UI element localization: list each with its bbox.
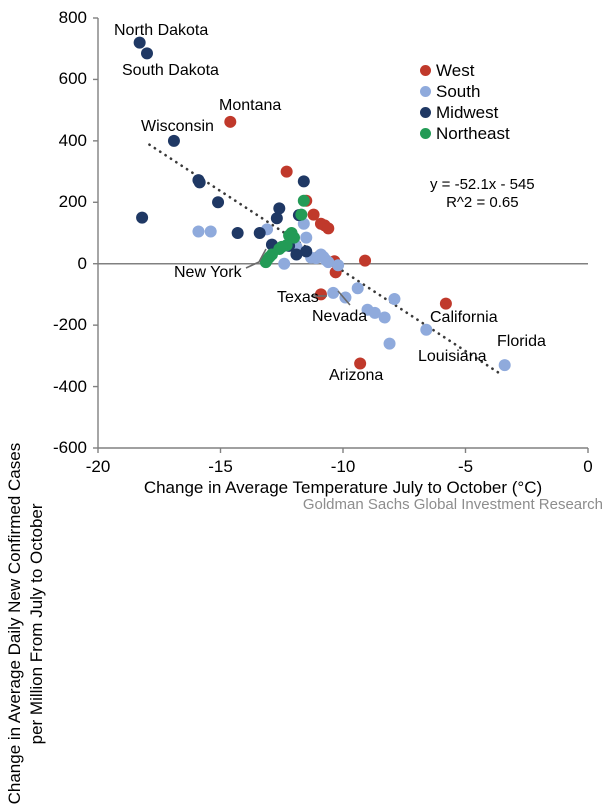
data-point: [384, 338, 396, 350]
data-point: [352, 282, 364, 294]
data-point: [499, 359, 511, 371]
x-axis-title: Change in Average Temperature July to Oc…: [98, 478, 588, 498]
data-point: [212, 196, 224, 208]
legend-swatch-icon: [420, 107, 431, 118]
x-tick-label: -15: [208, 457, 233, 477]
source-footer: Goldman Sachs Global Investment Research: [0, 496, 603, 513]
point-label-louisiana: Louisiana: [418, 348, 487, 366]
data-point: [205, 225, 217, 237]
x-tick-label: 0: [583, 457, 592, 477]
data-point: [295, 209, 307, 221]
data-point: [290, 249, 302, 261]
data-point: [388, 293, 400, 305]
point-label-wisconsin: Wisconsin: [141, 118, 214, 136]
data-point: [141, 47, 153, 59]
series-west: [224, 116, 452, 370]
y-tick-label: -200: [0, 315, 87, 335]
legend-swatch-icon: [420, 65, 431, 76]
y-tick-label: 0: [0, 254, 87, 274]
data-point: [298, 195, 310, 207]
data-point: [192, 225, 204, 237]
legend-item-west[interactable]: West: [420, 60, 510, 81]
data-point: [298, 175, 310, 187]
data-point: [254, 227, 266, 239]
y-tick-label: -400: [0, 377, 87, 397]
data-point: [194, 176, 206, 188]
legend-item-south[interactable]: South: [420, 81, 510, 102]
data-point: [271, 212, 283, 224]
point-label-texas: Texas: [277, 289, 319, 307]
y-tick-label: 600: [0, 69, 87, 89]
legend-item-northeast[interactable]: Northeast: [420, 123, 510, 144]
point-label-california: California: [430, 309, 498, 327]
regression-annotation: y = -52.1x - 545 R^2 = 0.65: [430, 176, 535, 212]
legend-item-label: South: [436, 83, 480, 100]
data-point: [232, 227, 244, 239]
scatter-chart: Change in Average Daily New Confirmed Ca…: [0, 0, 611, 523]
y-tick-label: 200: [0, 192, 87, 212]
y-tick-label: 800: [0, 8, 87, 28]
point-label-north-dakota: North Dakota: [114, 22, 208, 40]
regression-r2: R^2 = 0.65: [430, 194, 535, 212]
y-tick-label: 400: [0, 131, 87, 151]
x-tick-label: -20: [86, 457, 111, 477]
legend-item-label: Midwest: [436, 104, 498, 121]
data-point: [379, 311, 391, 323]
x-tick-label: -5: [458, 457, 473, 477]
point-label-florida: Florida: [497, 333, 546, 351]
data-point: [332, 259, 344, 271]
legend-item-label: West: [436, 62, 474, 79]
regression-equation: y = -52.1x - 545: [430, 176, 535, 194]
x-tick-label: -10: [331, 457, 356, 477]
legend: WestSouthMidwestNortheast: [420, 60, 510, 144]
y-tick-label: -600: [0, 438, 87, 458]
legend-swatch-icon: [420, 86, 431, 97]
data-point: [168, 135, 180, 147]
data-point: [136, 212, 148, 224]
point-label-arizona: Arizona: [329, 367, 383, 385]
point-label-nevada: Nevada: [312, 308, 367, 326]
data-point: [322, 222, 334, 234]
legend-item-midwest[interactable]: Midwest: [420, 102, 510, 123]
data-point: [327, 287, 339, 299]
data-point: [339, 292, 351, 304]
point-label-south-dakota: South Dakota: [122, 62, 219, 80]
legend-item-label: Northeast: [436, 125, 510, 142]
data-point: [224, 116, 236, 128]
point-label-montana: Montana: [219, 97, 281, 115]
point-label-new-york: New York: [174, 264, 242, 282]
data-point: [278, 258, 290, 270]
data-point: [359, 255, 371, 267]
chart-canvas: [0, 0, 611, 523]
data-point: [440, 298, 452, 310]
data-point: [281, 166, 293, 178]
data-point: [300, 232, 312, 244]
legend-swatch-icon: [420, 128, 431, 139]
